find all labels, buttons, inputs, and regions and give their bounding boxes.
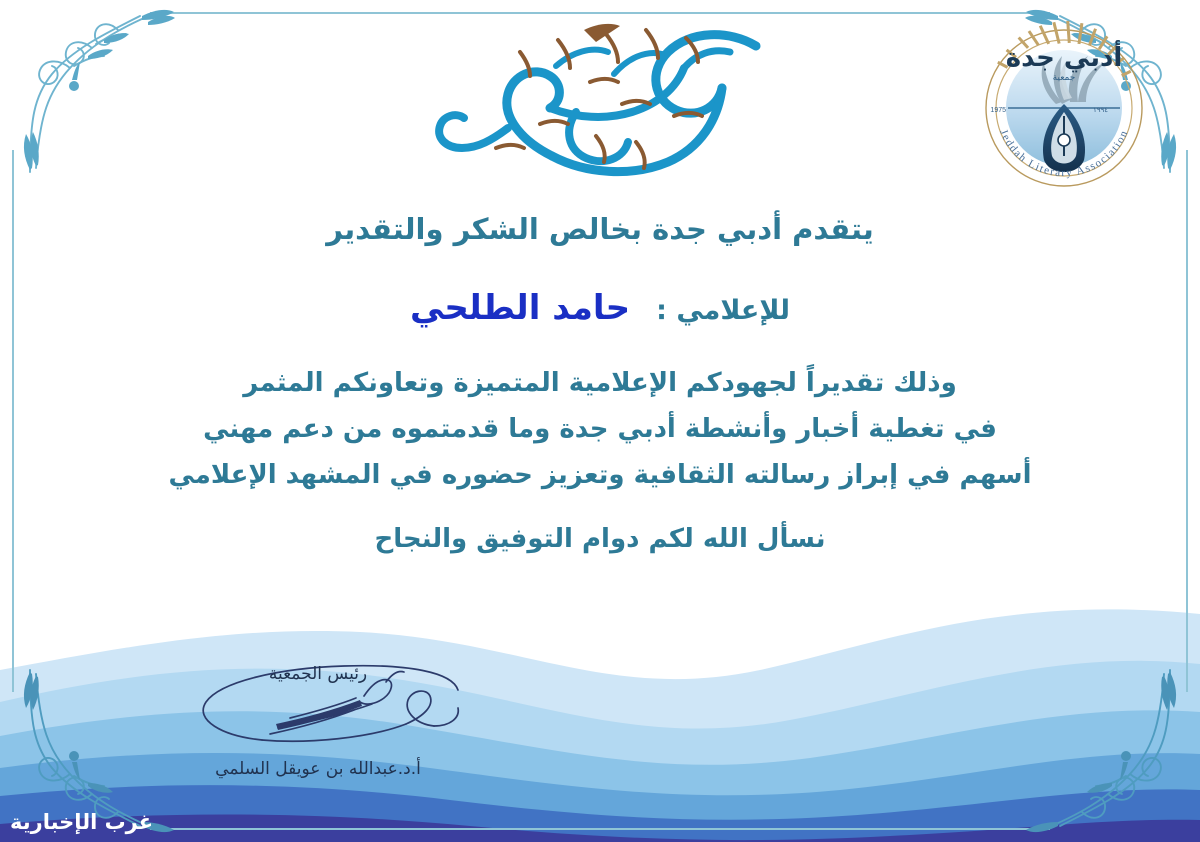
logo-arabic-name: أدبي جدة	[1006, 40, 1122, 73]
appreciation-paragraph: وذلك تقديراً لجهودكم الإعلامية المتميزة …	[60, 368, 1140, 490]
news-watermark: غرب الإخبارية	[10, 810, 153, 834]
border-line-left	[12, 150, 14, 692]
paragraph-line-1: وذلك تقديراً لجهودكم الإعلامية المتميزة …	[60, 368, 1140, 398]
closing-line: نسأل الله لكم دوام التوفيق والنجاح	[60, 524, 1140, 554]
certificate-heading: يتقدم أدبي جدة بخالص الشكر والتقدير	[60, 212, 1140, 246]
border-line-right	[1186, 150, 1188, 692]
signature-title: رئيس الجمعية	[158, 664, 478, 684]
logo-year-left: 1975	[990, 107, 1006, 114]
association-logo: 1975 ١٩٩٤ أدبي جدة جمعية Jeddah Literary…	[966, 8, 1162, 204]
certificate-page: 1975 ١٩٩٤ أدبي جدة جمعية Jeddah Literary…	[0, 0, 1200, 842]
border-line-bottom	[150, 828, 1050, 830]
recipient-label: للإعلامي :	[656, 295, 790, 326]
certificate-body: يتقدم أدبي جدة بخالص الشكر والتقدير للإع…	[60, 212, 1140, 554]
signature-block: رئيس الجمعية أ.د.عبدالله بن عويقل السلمي	[158, 664, 478, 779]
paragraph-line-3: أسهم في إبراز رسالته الثقافية وتعزيز حضو…	[60, 460, 1140, 490]
calligraphy-title-shukr-wa-taqdir	[400, 8, 800, 204]
logo-year-right: ١٩٩٤	[1093, 107, 1108, 114]
recipient-row: للإعلامي : حامد الطلحي	[60, 288, 1140, 328]
signature-name: أ.د.عبدالله بن عويقل السلمي	[158, 759, 478, 779]
corner-flourish-icon-top-left	[0, 0, 175, 175]
paragraph-line-2: في تغطية أخبار وأنشطة أدبي جدة وما قدمتم…	[60, 414, 1140, 444]
logo-arabic-sub: جمعية	[1053, 73, 1076, 83]
recipient-name: حامد الطلحي	[410, 288, 630, 328]
